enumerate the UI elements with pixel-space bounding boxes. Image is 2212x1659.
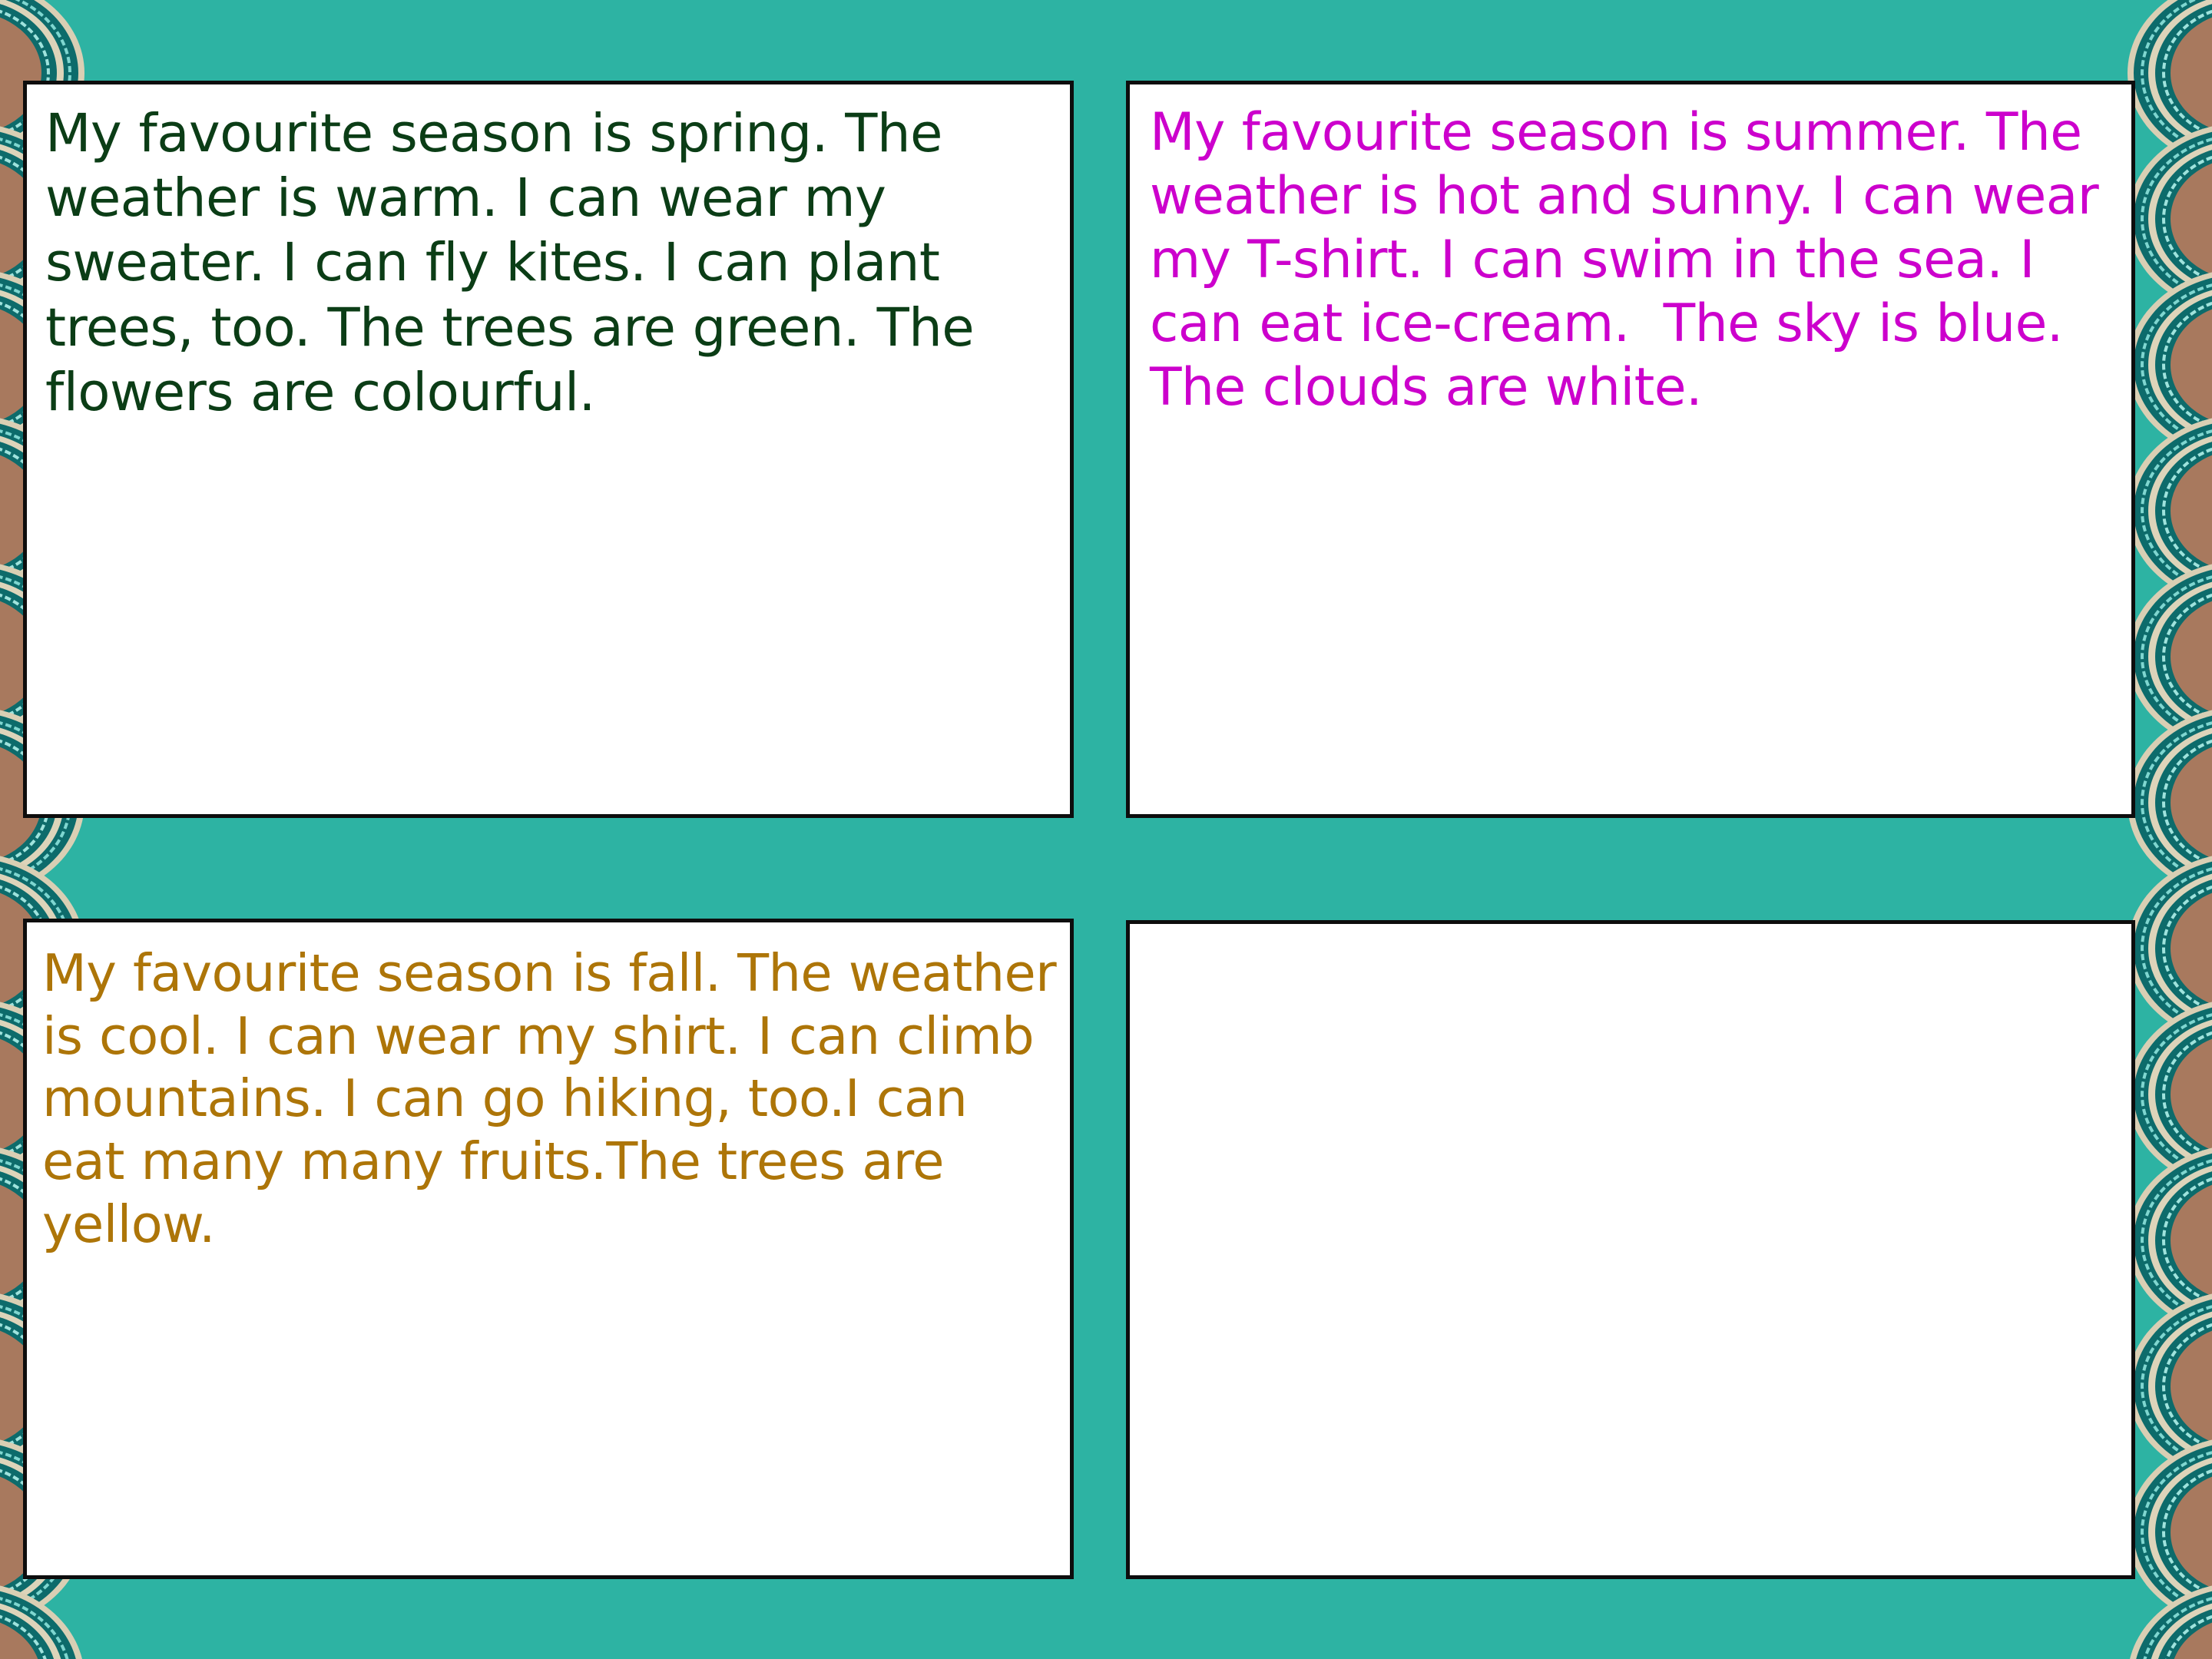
text-box-empty-winter[interactable] — [1126, 920, 2135, 1579]
text-box-summer[interactable]: My favourite season is summer. The weath… — [1126, 81, 2135, 818]
spring-paragraph: My favourite season is spring. The weath… — [27, 84, 1070, 432]
slide-canvas: My favourite season is spring. The weath… — [0, 0, 2212, 1659]
empty-paragraph — [1130, 924, 2131, 949]
text-box-fall[interactable]: My favourite season is fall. The weather… — [23, 919, 1074, 1579]
right-border-ornament-strip — [2128, 0, 2212, 1659]
fall-paragraph: My favourite season is fall. The weather… — [27, 922, 1070, 1264]
text-box-spring[interactable]: My favourite season is spring. The weath… — [23, 81, 1074, 818]
summer-paragraph: My favourite season is summer. The weath… — [1130, 84, 2131, 428]
